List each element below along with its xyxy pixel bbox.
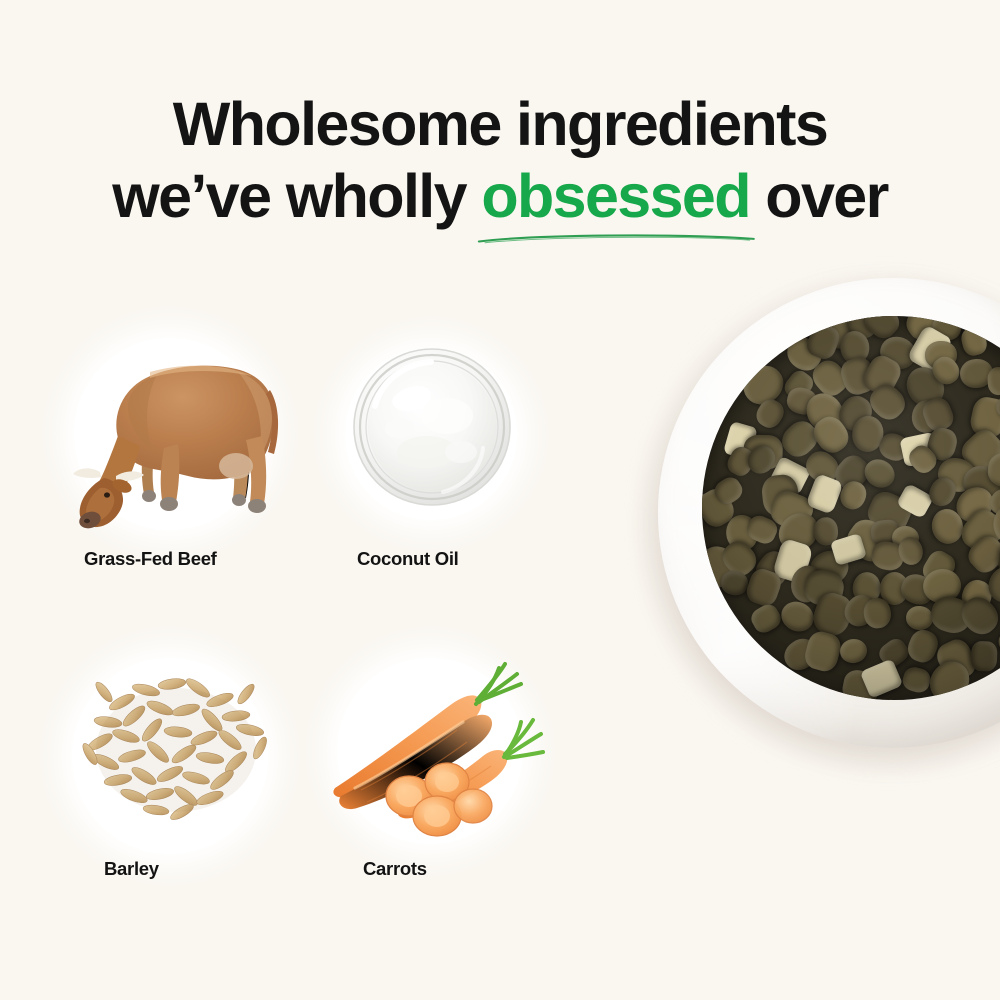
headline-line-2-prefix: we’ve wholly xyxy=(112,162,481,230)
headline-line-2-suffix: over xyxy=(750,162,888,230)
ingredient-card-coconut-oil[interactable]: Coconut Oil xyxy=(315,320,615,620)
page-title: Wholesome ingredients we’ve wholly obses… xyxy=(0,88,1000,232)
ingredient-label: Barley xyxy=(104,858,159,880)
kibble-piece xyxy=(748,600,785,636)
hand-drawn-underline-icon xyxy=(475,231,758,245)
ingredient-card-carrots[interactable]: Carrots xyxy=(315,630,615,930)
headline-line-1: Wholesome ingredients xyxy=(0,88,1000,160)
headline-accent-text: obsessed xyxy=(481,162,750,230)
kibble-piece xyxy=(970,640,997,671)
ingredient-label: Carrots xyxy=(363,858,427,880)
headline-accent-word: obsessed xyxy=(481,160,750,232)
cow-icon xyxy=(60,320,290,535)
ingredient-label: Grass-Fed Beef xyxy=(84,548,217,570)
headline-line-2: we’ve wholly obsessed over xyxy=(0,160,1000,232)
grain-icon xyxy=(60,630,290,845)
dog-food-bowl-photo xyxy=(630,250,1000,770)
ingredient-grid: Grass-Fed Beef xyxy=(0,300,620,920)
kibble-piece xyxy=(839,637,870,665)
jar-icon xyxy=(315,320,545,535)
carrot-icon xyxy=(315,630,545,845)
kibble-piece xyxy=(905,605,934,631)
marketing-banner: Wholesome ingredients we’ve wholly obses… xyxy=(0,0,1000,1000)
ingredient-label: Coconut Oil xyxy=(357,548,459,570)
kibble-piece xyxy=(986,367,1000,396)
kibble-piece xyxy=(900,665,932,695)
kibble-piece xyxy=(802,629,844,674)
